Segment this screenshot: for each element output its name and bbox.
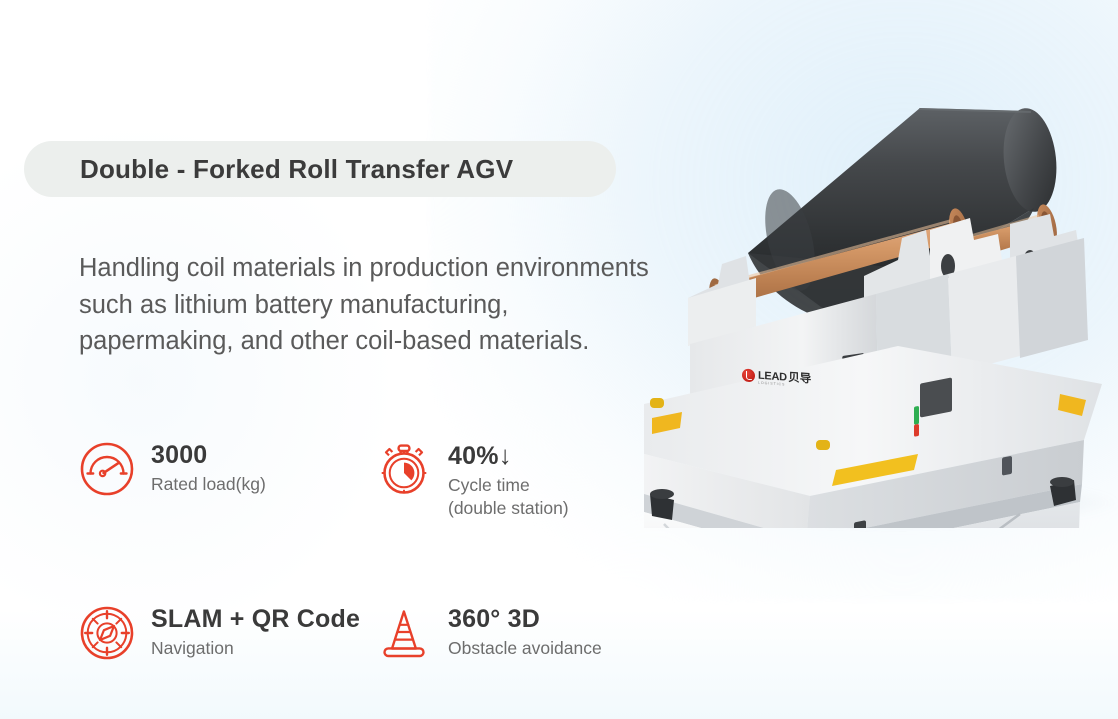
traffic-cone-icon: [375, 604, 433, 662]
spec-value: 360° 3D: [448, 604, 602, 634]
spec-value: 40%↓: [448, 440, 569, 471]
stopwatch-icon: [375, 440, 433, 498]
spec-item-rated-load: 3000 Rated load(kg): [78, 438, 375, 520]
spec-label-secondary: (double station): [448, 497, 569, 520]
spec-label: Navigation: [151, 637, 360, 660]
spec-value: 3000: [151, 440, 266, 470]
spec-label: Rated load(kg): [151, 473, 266, 496]
spec-row: SLAM + QR Code Navigation 360° 3D Obstac…: [78, 602, 678, 662]
lead-logo-mark-icon: [742, 368, 755, 382]
page-title: Double - Forked Roll Transfer AGV: [80, 154, 513, 185]
spec-text-block: 360° 3D Obstacle avoidance: [448, 602, 602, 660]
agv-product-image: [630, 88, 1118, 528]
spec-item-navigation: SLAM + QR Code Navigation: [78, 602, 375, 662]
title-pill: Double - Forked Roll Transfer AGV: [24, 141, 616, 197]
spec-value: SLAM + QR Code: [151, 604, 360, 634]
compass-icon: [78, 604, 136, 662]
down-arrow-icon: ↓: [499, 440, 512, 470]
spec-row: 3000 Rated load(kg): [78, 438, 678, 520]
spec-label: Cycle time: [448, 474, 569, 497]
gauge-icon: [78, 440, 136, 498]
spec-grid: 3000 Rated load(kg): [78, 438, 678, 662]
spec-value-number: 40%: [448, 442, 499, 470]
spec-text-block: SLAM + QR Code Navigation: [151, 602, 360, 660]
slide-canvas: Double - Forked Roll Transfer AGV Handli…: [0, 0, 1118, 719]
spec-item-obstacle-avoidance: 360° 3D Obstacle avoidance: [375, 602, 675, 662]
description-text: Handling coil materials in production en…: [79, 250, 655, 360]
spec-text-block: 3000 Rated load(kg): [151, 438, 266, 496]
spec-label: Obstacle avoidance: [448, 637, 602, 660]
brand-chinese-name: 贝导: [788, 373, 811, 386]
spec-text-block: 40%↓ Cycle time (double station): [448, 438, 569, 520]
